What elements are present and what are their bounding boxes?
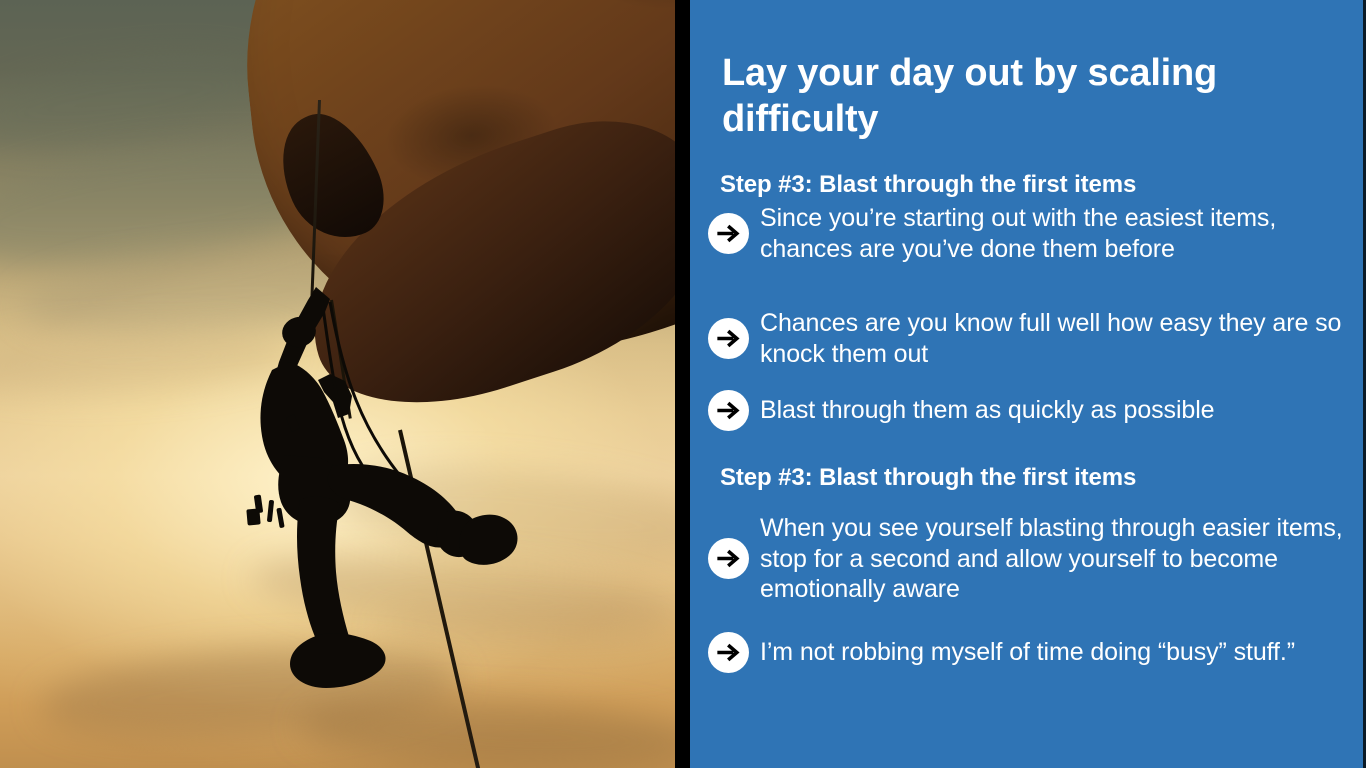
bullet-text: Blast through them as quickly as possibl… xyxy=(760,395,1214,426)
bullet-item: Blast through them as quickly as possibl… xyxy=(708,390,1348,431)
section-heading-2: Step #3: Blast through the first items xyxy=(720,464,1340,492)
arrow-right-circle-icon xyxy=(708,318,749,359)
bullet-text: Chances are you know full well how easy … xyxy=(760,308,1348,369)
bullet-text: When you see yourself blasting through e… xyxy=(760,513,1348,605)
climber-silhouette xyxy=(0,0,675,768)
bullet-text: Since you’re starting out with the easie… xyxy=(760,203,1348,264)
bullet-text: I’m not robbing myself of time doing “bu… xyxy=(760,637,1295,668)
panel-divider xyxy=(675,0,690,768)
bullet-item: When you see yourself blasting through e… xyxy=(708,513,1348,605)
arrow-right-circle-icon xyxy=(708,632,749,673)
arrow-right-circle-icon xyxy=(708,538,749,579)
section-heading-1: Step #3: Blast through the first items xyxy=(720,171,1340,199)
presentation-slide: Lay your day out by scaling difficulty S… xyxy=(0,0,1366,768)
arrow-right-circle-icon xyxy=(708,390,749,431)
bullet-item: Since you’re starting out with the easie… xyxy=(708,203,1348,264)
climber-photo xyxy=(0,0,675,768)
bullet-item: Chances are you know full well how easy … xyxy=(708,308,1348,369)
content-panel: Lay your day out by scaling difficulty S… xyxy=(690,0,1366,768)
bullet-item: I’m not robbing myself of time doing “bu… xyxy=(708,632,1348,673)
slide-title: Lay your day out by scaling difficulty xyxy=(722,50,1322,143)
arrow-right-circle-icon xyxy=(708,213,749,254)
